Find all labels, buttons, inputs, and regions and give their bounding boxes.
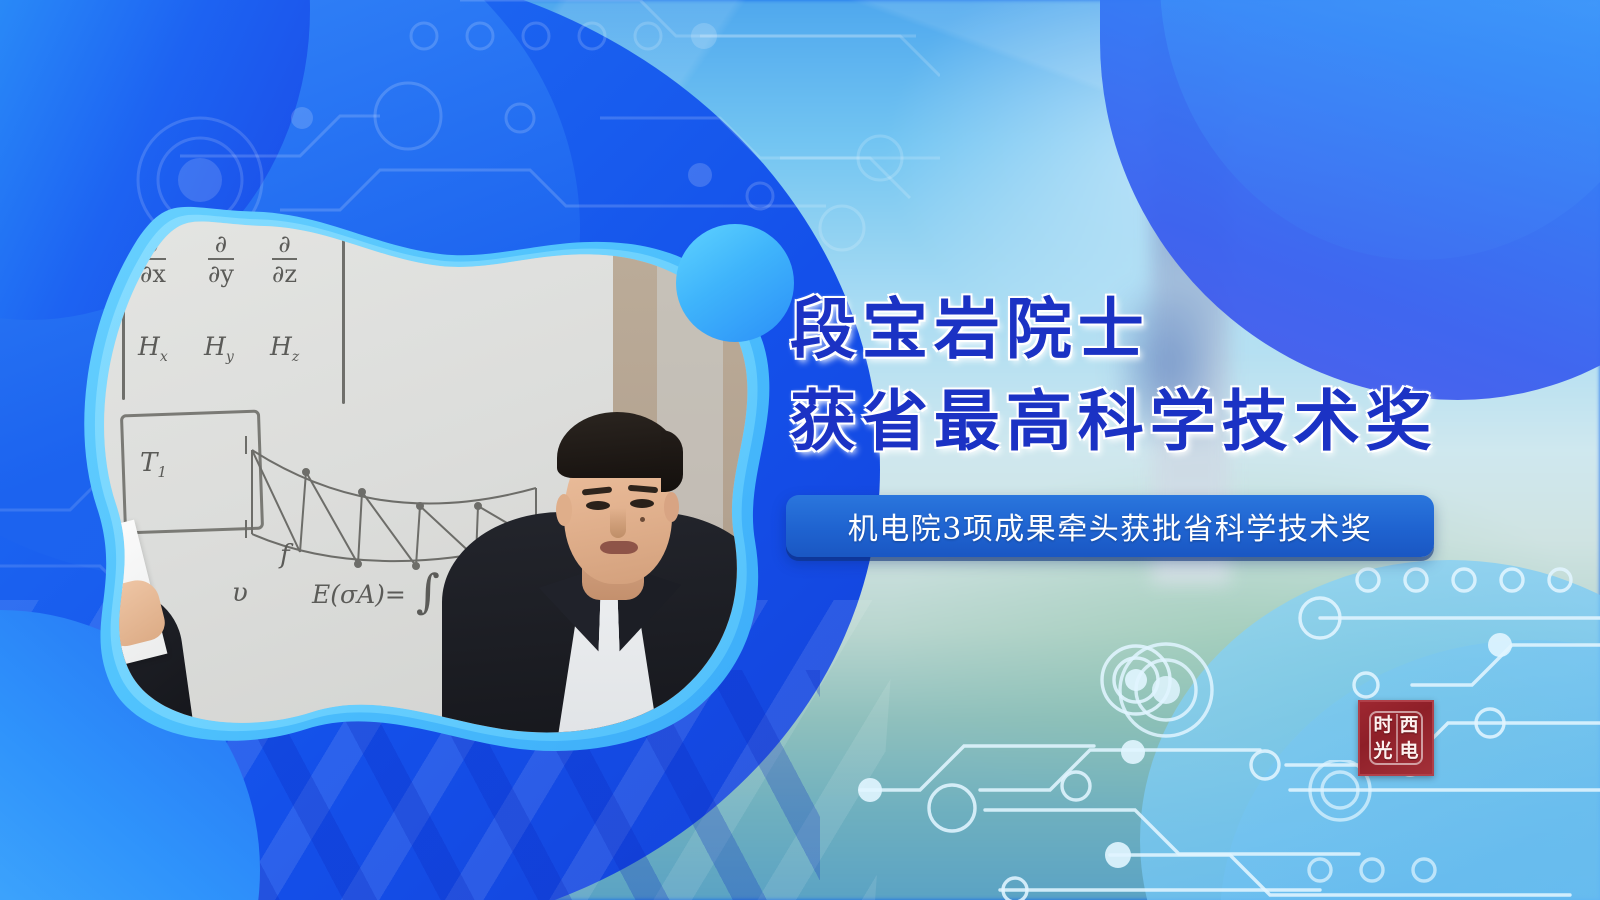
seal-char-guang: 光 [1373, 742, 1392, 761]
whiteboard-symbol-v: υ [232, 578, 248, 608]
determinant-bar-right [342, 194, 345, 404]
seal-char-dian: 电 [1399, 742, 1418, 761]
whiteboard-field-hz: Hz [270, 332, 299, 365]
whiteboard-equation: E(σA)= [312, 580, 406, 609]
portrait-photo-container: i j k = ∂∂x ∂∂y ∂∂z Hx Hy Hz T1 [44, 132, 774, 762]
person-mouth [600, 541, 638, 554]
title-line-2: 获省最高科学技术奖 [790, 388, 1437, 454]
poster-title-block: 段宝岩院士 获省最高科学技术奖 [790, 296, 1437, 454]
seal-character-grid: 时 西 光 电 [1370, 712, 1422, 764]
whiteboard-equals-sign: = [100, 240, 118, 265]
person-ear-right [664, 492, 679, 522]
subtitle-text: 机电院3项成果牵头获批省科学技术奖 [848, 504, 1373, 548]
xidian-seal-stamp: 时 西 光 电 [1358, 700, 1434, 776]
whiteboard-integral: ∫ [416, 564, 440, 618]
portrait-person [442, 332, 772, 762]
whiteboard-partial-y: ∂∂y [208, 232, 234, 286]
person-hair [557, 412, 679, 478]
whiteboard-symbol-f: f [280, 540, 290, 570]
whiteboard-field-hx: Hx [138, 332, 168, 365]
whiteboard-unit-vector-i: i [148, 192, 156, 222]
seal-char-xi: 西 [1399, 716, 1418, 735]
seal-char-shi: 时 [1373, 716, 1392, 735]
person-eye-left [586, 501, 610, 510]
whiteboard-field-hy: Hy [204, 332, 234, 365]
whiteboard-partial-z: ∂∂z [272, 232, 297, 286]
poster-canvas: i j k = ∂∂x ∂∂y ∂∂z Hx Hy Hz T1 [0, 0, 1600, 900]
person-ear-left [556, 494, 572, 526]
decorative-accent-circle [676, 224, 794, 342]
person-nose [610, 508, 626, 538]
person-mole [640, 517, 645, 522]
subtitle-banner: 机电院3项成果牵头获批省科学技术奖 [786, 495, 1434, 557]
whiteboard-box-label: T1 [140, 448, 167, 481]
person-eye-right [630, 499, 654, 508]
title-line-1: 段宝岩院士 [790, 296, 1437, 362]
